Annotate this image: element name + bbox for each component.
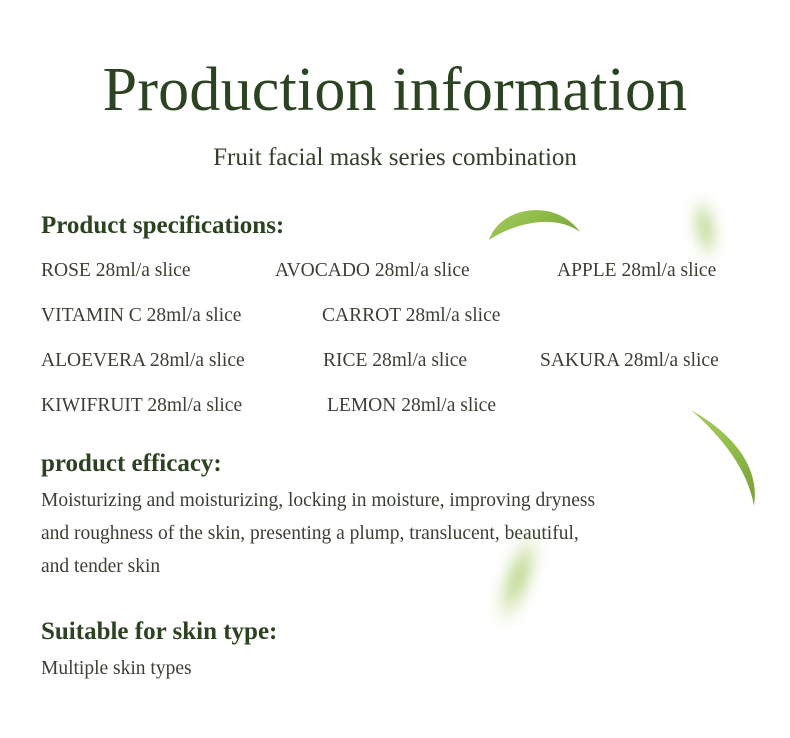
spec-item-sakura: SAKURA 28ml/a slice [540,348,719,374]
section-heading-efficacy: product efficacy: [41,449,222,479]
product-information-page: Production information Fruit facial mask… [0,0,790,738]
section-heading-specifications: Product specifications: [41,211,284,241]
spec-item-vitamin-c: VITAMIN C 28ml/a slice [41,303,241,329]
spec-item-aloevera: ALOEVERA 28ml/a slice [41,348,245,374]
specification-row: ALOEVERA 28ml/a slice RICE 28ml/a slice … [0,348,790,374]
specification-row: VITAMIN C 28ml/a slice CARROT 28ml/a sli… [0,303,790,329]
spec-item-avocado: AVOCADO 28ml/a slice [275,258,470,284]
content-layer: Production information Fruit facial mask… [0,0,790,738]
page-subtitle: Fruit facial mask series combination [0,143,790,173]
efficacy-line: and tender skin [41,550,753,583]
specification-row: KIWIFRUIT 28ml/a slice LEMON 28ml/a slic… [0,393,790,419]
spec-item-carrot: CARROT 28ml/a slice [322,303,500,329]
spec-item-lemon: LEMON 28ml/a slice [327,393,496,419]
efficacy-line: Moisturizing and moisturizing, locking i… [41,484,753,517]
efficacy-paragraph: Moisturizing and moisturizing, locking i… [41,484,753,583]
spec-item-rice: RICE 28ml/a slice [323,348,467,374]
specification-row: ROSE 28ml/a slice AVOCADO 28ml/a slice A… [0,258,790,284]
efficacy-line: and roughness of the skin, presenting a … [41,517,753,550]
section-heading-skin-type: Suitable for skin type: [41,617,277,647]
spec-item-apple: APPLE 28ml/a slice [557,258,716,284]
page-title: Production information [0,58,790,124]
spec-item-kiwifruit: KIWIFRUIT 28ml/a slice [41,393,242,419]
spec-item-rose: ROSE 28ml/a slice [41,258,191,284]
skin-type-value: Multiple skin types [41,655,192,683]
